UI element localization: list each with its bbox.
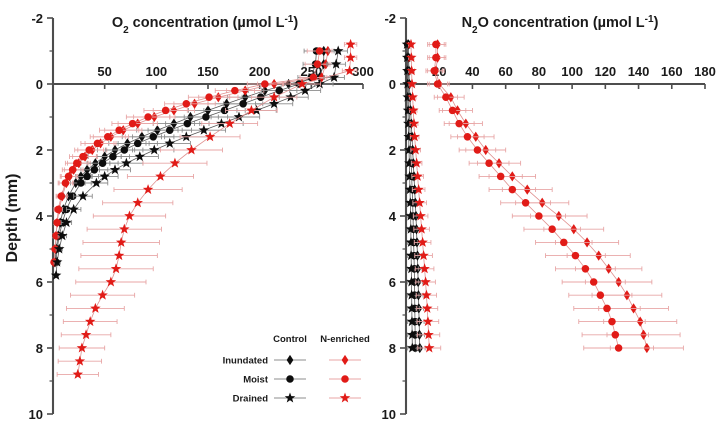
data-point bbox=[81, 329, 92, 339]
x-tick-label: 100 bbox=[145, 64, 167, 79]
data-point bbox=[149, 133, 157, 141]
data-point bbox=[104, 133, 112, 141]
x-tick-label: 80 bbox=[532, 64, 546, 79]
data-point bbox=[149, 144, 160, 154]
data-point bbox=[572, 252, 580, 260]
data-point bbox=[129, 120, 137, 128]
data-point bbox=[121, 158, 132, 168]
series-group bbox=[50, 39, 357, 379]
data-point bbox=[449, 107, 457, 115]
data-point bbox=[115, 126, 123, 134]
data-point bbox=[135, 151, 146, 161]
data-point bbox=[333, 45, 344, 55]
data-point bbox=[474, 146, 482, 154]
y-tick-label: 6 bbox=[389, 275, 396, 290]
x-tick-label: 160 bbox=[661, 64, 683, 79]
data-point bbox=[109, 153, 117, 161]
data-point bbox=[134, 140, 142, 148]
data-point bbox=[285, 92, 296, 102]
data-point bbox=[582, 265, 590, 273]
data-point bbox=[53, 219, 61, 227]
series-line bbox=[434, 44, 618, 348]
data-point bbox=[83, 173, 91, 181]
x-tick-label: 150 bbox=[197, 64, 219, 79]
data-point bbox=[509, 186, 517, 194]
legend-row-label-moist: Moist bbox=[243, 375, 269, 386]
y-tick-label: 2 bbox=[389, 143, 396, 158]
data-point bbox=[68, 204, 79, 214]
data-point bbox=[162, 107, 170, 115]
data-point bbox=[73, 159, 81, 167]
data-point bbox=[155, 171, 166, 181]
data-point bbox=[91, 177, 102, 187]
data-point bbox=[121, 146, 129, 154]
data-point bbox=[608, 318, 616, 326]
data-point bbox=[99, 159, 107, 167]
y-tick-label: 8 bbox=[36, 341, 43, 356]
data-point bbox=[114, 250, 125, 260]
x-tick-label: 60 bbox=[498, 64, 512, 79]
legend-header-n-enriched: N-enriched bbox=[320, 334, 370, 345]
data-point bbox=[224, 118, 235, 128]
legend-marker-diamond bbox=[287, 355, 294, 365]
data-point bbox=[85, 146, 93, 154]
data-point bbox=[522, 199, 530, 207]
data-point bbox=[316, 47, 324, 55]
data-point bbox=[590, 278, 598, 286]
y-tick-label: 4 bbox=[389, 209, 397, 224]
data-point bbox=[69, 166, 77, 174]
x-tick-label: 120 bbox=[594, 64, 616, 79]
y-tick-label: 0 bbox=[389, 77, 396, 92]
series-group bbox=[402, 39, 684, 353]
data-point bbox=[560, 239, 568, 247]
y-tick-label: 10 bbox=[29, 407, 43, 422]
legend-marker-star bbox=[285, 392, 296, 402]
y-tick-label: 6 bbox=[36, 275, 43, 290]
data-point bbox=[77, 179, 85, 187]
data-point bbox=[603, 305, 611, 313]
data-point bbox=[199, 125, 210, 135]
data-point bbox=[424, 342, 435, 352]
data-point bbox=[54, 206, 62, 214]
x-tick-label: 300 bbox=[352, 64, 374, 79]
series-4 bbox=[426, 41, 654, 352]
data-point bbox=[497, 173, 505, 181]
data-point bbox=[183, 100, 191, 108]
y-tick-label: 10 bbox=[382, 407, 396, 422]
series-line bbox=[436, 44, 647, 348]
series-3 bbox=[428, 39, 684, 353]
data-point bbox=[181, 131, 192, 141]
x-tick-label: 40 bbox=[465, 64, 479, 79]
y-tick-label: 4 bbox=[36, 209, 44, 224]
legend-marker-diamond bbox=[342, 355, 349, 365]
data-point bbox=[77, 342, 88, 352]
data-point bbox=[116, 237, 127, 247]
data-point bbox=[432, 41, 440, 49]
data-point bbox=[165, 138, 176, 148]
data-point bbox=[119, 224, 130, 234]
legend-marker-star bbox=[340, 392, 351, 402]
data-point bbox=[124, 210, 135, 220]
data-point bbox=[79, 153, 87, 161]
data-point bbox=[485, 159, 493, 167]
data-point bbox=[90, 303, 101, 313]
data-point bbox=[144, 113, 152, 121]
data-point bbox=[205, 93, 213, 101]
legend-marker-circle bbox=[286, 375, 294, 383]
data-point bbox=[329, 72, 340, 82]
legend-marker-circle bbox=[341, 375, 349, 383]
data-point bbox=[432, 54, 440, 62]
data-point bbox=[597, 291, 605, 299]
series-3 bbox=[50, 47, 332, 266]
legend-header-control: Control bbox=[273, 334, 307, 345]
panel-n2o: N2O concentration (µmol L-1)204060801001… bbox=[380, 0, 726, 433]
series-line bbox=[411, 44, 429, 348]
legend-row-label-drained: Drained bbox=[233, 394, 269, 405]
axis-title: N2O concentration (µmol L-1) bbox=[462, 14, 659, 36]
data-point bbox=[97, 290, 108, 300]
x-tick-label: 180 bbox=[694, 64, 716, 79]
data-point bbox=[111, 263, 122, 273]
data-point bbox=[434, 80, 442, 88]
data-point bbox=[430, 67, 438, 75]
y-tick-label: 0 bbox=[36, 77, 43, 92]
data-point bbox=[261, 80, 269, 88]
data-point bbox=[132, 197, 143, 207]
panel-o2: O2 concentration (µmol L-1)Depth (mm)501… bbox=[0, 0, 380, 433]
data-point bbox=[202, 113, 210, 121]
n2o-plot-svg: N2O concentration (µmol L-1)204060801001… bbox=[380, 0, 726, 433]
data-point bbox=[314, 60, 322, 68]
data-point bbox=[615, 344, 623, 352]
data-point bbox=[231, 87, 239, 95]
y-tick-label: -2 bbox=[31, 11, 43, 26]
series-5 bbox=[57, 39, 357, 379]
data-point bbox=[184, 120, 192, 128]
x-tick-label: 100 bbox=[561, 64, 583, 79]
axis-title: O2 concentration (µmol L-1) bbox=[112, 14, 299, 36]
data-point bbox=[62, 179, 70, 187]
x-tick-label: 140 bbox=[628, 64, 650, 79]
data-point bbox=[110, 164, 121, 174]
figure-root: O2 concentration (µmol L-1)Depth (mm)501… bbox=[0, 0, 726, 433]
y-tick-label: 2 bbox=[36, 143, 43, 158]
legend-row-label-inundated: Inundated bbox=[223, 356, 269, 367]
data-point bbox=[57, 192, 65, 200]
x-tick-label: 200 bbox=[249, 64, 271, 79]
x-tick-label: 50 bbox=[97, 64, 111, 79]
data-point bbox=[548, 225, 556, 233]
data-point bbox=[455, 120, 463, 128]
data-point bbox=[106, 276, 117, 286]
data-point bbox=[65, 173, 73, 181]
data-point bbox=[239, 100, 247, 108]
data-point bbox=[94, 140, 102, 148]
data-point bbox=[442, 93, 450, 101]
data-point bbox=[91, 166, 99, 174]
legend: ControlN-enrichedInundatedMoistDrained bbox=[223, 334, 370, 405]
data-point bbox=[331, 59, 342, 69]
series-line bbox=[78, 44, 351, 374]
data-point bbox=[73, 369, 84, 379]
y-tick-label: 8 bbox=[389, 341, 396, 356]
y-axis-label: Depth (mm) bbox=[4, 174, 21, 263]
data-point bbox=[166, 126, 174, 134]
data-point bbox=[75, 356, 86, 366]
o2-plot-svg: O2 concentration (µmol L-1)Depth (mm)501… bbox=[0, 0, 380, 433]
data-point bbox=[612, 331, 620, 339]
y-tick-label: -2 bbox=[384, 11, 396, 26]
data-point bbox=[464, 133, 472, 141]
data-point bbox=[535, 212, 543, 220]
data-point bbox=[85, 316, 96, 326]
